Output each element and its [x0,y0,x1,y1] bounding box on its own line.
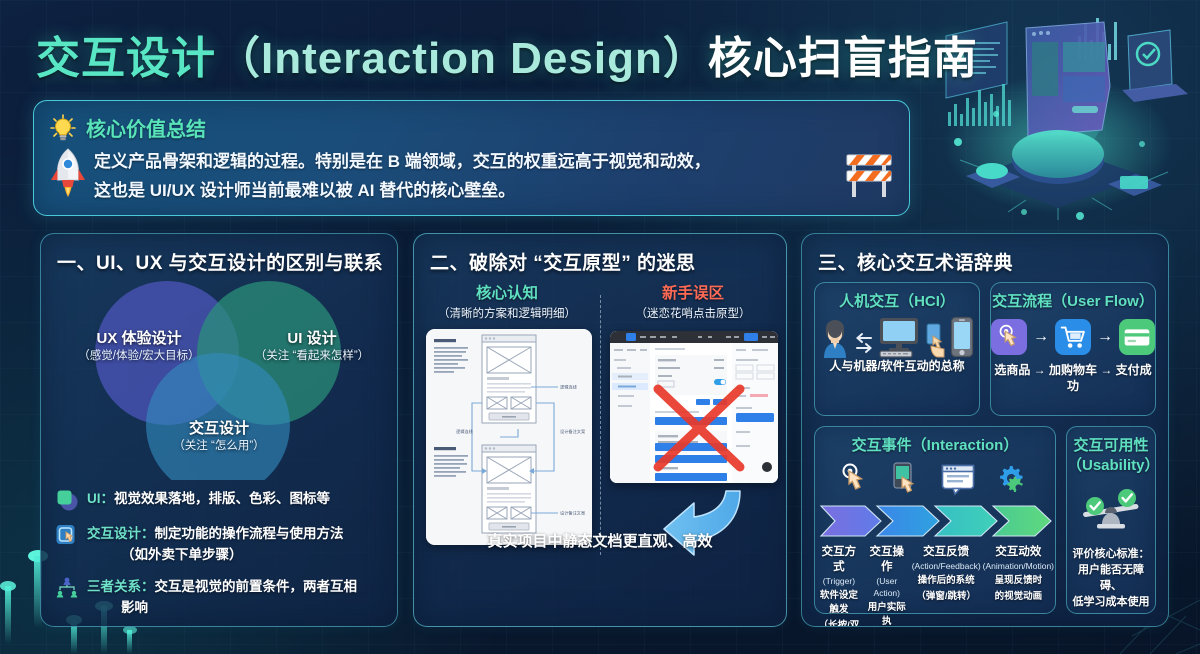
card-usability-cap-2: 用户能否无障碍、 [1067,562,1155,594]
panel2-left-head-title: 核心认知 [414,283,600,305]
svg-text:设计备注文案: 设计备注文案 [560,428,586,435]
step1-en: (Trigger) [816,575,862,587]
hand-phone-icon [924,322,946,358]
step2-cn: 交互操作 [864,545,910,575]
tap-card-icon [55,523,79,549]
card-usability-cap-1: 评价核心标准： [1067,546,1155,562]
person-icon [820,316,850,358]
panel-terminology-dictionary: 三、核心交互术语辞典 人机交互（HCI） [801,233,1169,627]
panel2-right-head-title: 新手误区 [600,283,786,305]
card-hci-title: 人机交互（HCI） [815,283,979,312]
step4-desc1: 呈现反馈时 [983,574,1054,588]
card-usability-cap-3: 低学习成本使用 [1067,594,1155,610]
summary-heading: 核心价值总结 [86,113,206,142]
lightbulb-icon [50,114,76,142]
card-hci-caption: 人与机器/软件互动的总称 [815,358,979,374]
interaction-chevron-flow [819,500,1051,542]
shopping-cart-icon [1055,318,1091,356]
ui-layers-icon [55,488,79,512]
wireframe-document: 逻辑连线 逻辑连线 设计备注文案 设计备注文案 [426,329,592,545]
interaction-step-3: 交互反馈 (Action/Feedback) 操作后的系统 （弹窗/跳转） [911,545,982,627]
panel2-title: 二、破除对 “交互原型” 的迷思 [414,234,786,275]
dialog-bubble-icon [941,464,975,496]
step3-en: (Action/Feedback) [912,560,981,572]
phone-tap-icon [891,462,919,496]
bullet-3-sub: 影响 [87,597,357,618]
svg-text:设计备注文案: 设计备注文案 [560,510,586,517]
interaction-step-4: 交互动效 (Animation/Motion) 呈现反馈时 的视觉动画 [982,545,1055,627]
bullet-3-key: 三者关系： [87,579,155,594]
smartphone-icon [950,316,974,358]
title-cn-1: 交互设计 [36,34,216,83]
bullet-2-key: 交互设计： [87,526,155,541]
core-value-summary-banner: 核心价值总结 定义产品骨架和逻辑的过程。特别是在 B 端领域，交互的权重远高于视… [33,100,910,216]
card-flow-caption: 选商品 → 加购物车 → 支付成功 [991,362,1155,394]
panel2-caption: 真实项目中静态文档更直观、高效 [414,530,786,551]
card-hci-icons [815,316,979,358]
card-hci: 人机交互（HCI） [814,282,980,416]
usability-check-right [1118,489,1136,507]
title-en: Interaction Design [261,34,663,83]
step4-desc2: 的视觉动画 [983,590,1054,604]
card-interaction-icons [815,462,1055,496]
tap-finger-icon [991,318,1027,356]
card-usability-title-2: （Usability） [1067,456,1155,476]
bullet-2-text: 制定功能的操作流程与使用方法 [155,526,344,541]
desktop-monitor-icon [878,316,920,358]
flow-arrow-2: → [1097,328,1113,346]
flow-arrow-1: → [1033,328,1049,346]
step4-cn: 交互动效 [983,545,1054,560]
panel1-title: 一、UI、UX 与交互设计的区别与联系 [41,234,397,275]
interaction-step-2: 交互操作 (User Action) 用户实际执 行动作 [863,545,911,627]
bullet-2-sub: （如外卖下单步骤） [87,544,344,565]
panel-prototype-myth: 二、破除对 “交互原型” 的迷思 核心认知 （清晰的方案和逻辑明细） 新手误区 … [413,233,787,627]
people-network-icon [55,576,79,600]
bullet-3-text: 交互是视觉的前置条件，两者互相 [155,579,358,594]
card-user-flow: 交互流程（User Flow） → → [990,282,1156,416]
list-item: 三者关系：交互是视觉的前置条件，两者互相 影响 [55,576,385,618]
summary-line-1: 定义产品骨架和逻辑的过程。特别是在 B 端领域，交互的权重远高于视觉和动效， [94,147,891,176]
card-flow-title: 交互流程（User Flow） [991,283,1155,312]
barrier-icon [843,147,895,199]
interaction-step-1: 交互方式 (Trigger) 软件设定触发 （长按/双击） [815,545,863,627]
panel-ui-ux-ix: 一、UI、UX 与交互设计的区别与联系 UX 体验设计 （感觉/体验/宏大目标）… [40,233,398,627]
step2-desc1: 用户实际执 [864,601,910,627]
svg-text:逻辑连线: 逻辑连线 [456,428,474,435]
step4-en: (Animation/Motion) [983,560,1054,572]
card-usability-title-1: 交互可用性 [1067,427,1155,456]
panel2-divider [600,295,601,555]
panel2-right-head: 新手误区 （迷恋花哨点击原型） [600,283,786,323]
rocket-icon [50,147,86,201]
tap-hand-icon [839,462,869,496]
panel2-right-head-sub: （迷恋花哨点击原型） [600,305,786,323]
step2-en: (User Action) [864,575,910,599]
credit-card-icon [1119,318,1155,356]
title-paren-close: ） [663,34,708,83]
prototype-mockup-screenshot [610,331,778,483]
page-title: 交互设计（Interaction Design）核心扫盲指南 [36,24,956,94]
panel2-left-head: 核心认知 （清晰的方案和逻辑明细） [414,283,600,323]
title-cn-2: 核心扫盲指南 [708,34,978,83]
card-interaction-title: 交互事件（Interaction） [815,427,1055,456]
usability-check-left [1086,497,1104,515]
panel3-title: 三、核心交互术语辞典 [802,234,1168,275]
svg-text:逻辑连线: 逻辑连线 [560,384,578,391]
bullet-1-text: 视觉效果落地，排版、色彩、图标等 [114,491,330,506]
step1-desc1: 软件设定触发 [816,589,862,617]
interaction-step-labels: 交互方式 (Trigger) 软件设定触发 （长按/双击） 交互操作 (User… [815,545,1055,627]
step3-desc2: （弹窗/跳转） [912,590,981,604]
card-flow-steps: → → [991,318,1155,356]
list-item: 交互设计：制定功能的操作流程与使用方法 （如外卖下单步骤） [55,523,385,565]
panel2-left-head-sub: （清晰的方案和逻辑明细） [414,305,600,323]
balance-scale-check-icon [1075,482,1147,540]
panel1-bullet-list: UI：视觉效果落地，排版、色彩、图标等 交互设计：制定功能的操作流程与使用方法 … [41,480,397,618]
step1-cn: 交互方式 [816,545,862,575]
venn-diagram: UX 体验设计 （感觉/体验/宏大目标） UI 设计 （关注 “看起来怎样”） … [41,275,398,480]
title-paren-open: （ [216,34,261,83]
step3-cn: 交互反馈 [912,545,981,560]
step1-desc2: （长按/双击） [816,619,862,627]
exchange-arrows-icon [854,328,874,358]
gears-icon [997,464,1031,496]
card-usability: 交互可用性 （Usability） 评价核心标准： 用户 [1066,426,1156,614]
summary-line-2: 这也是 UI/UX 设计师当前最难以被 AI 替代的核心壁垒。 [94,176,891,205]
card-interaction: 交互事件（Interaction） [814,426,1056,614]
bullet-1-key: UI： [87,491,114,506]
step3-desc1: 操作后的系统 [912,574,981,588]
list-item: UI：视觉效果落地，排版、色彩、图标等 [55,488,385,512]
